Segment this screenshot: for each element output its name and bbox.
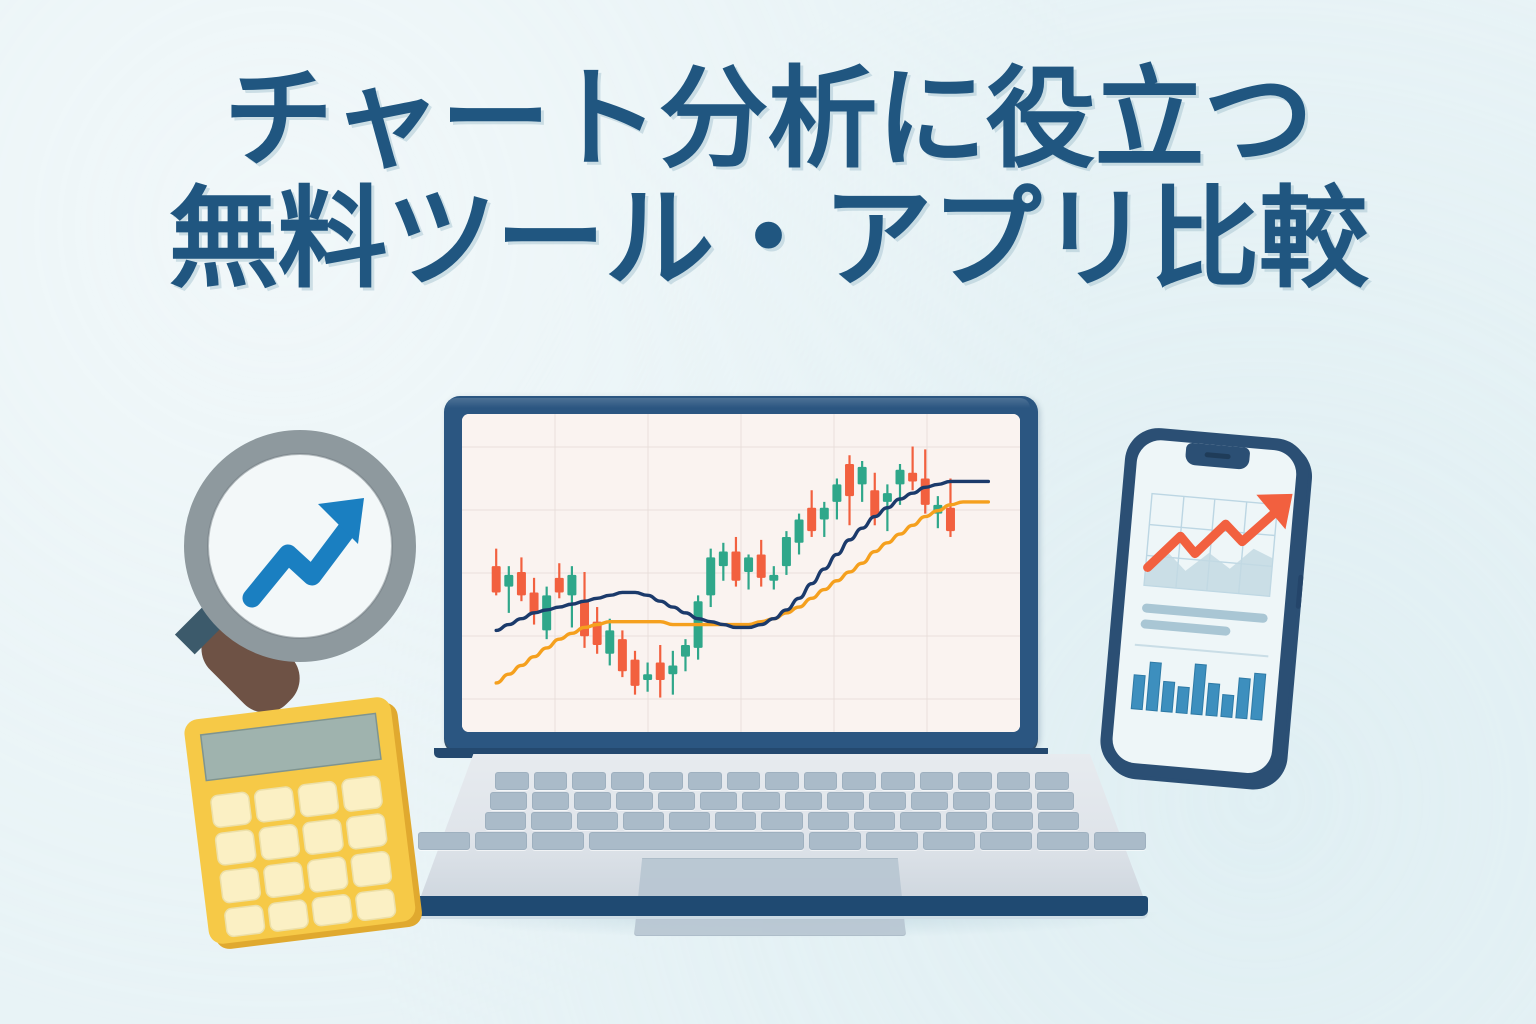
candlestick-chart <box>462 414 1020 732</box>
keyboard-key[interactable] <box>742 792 779 810</box>
keyboard-row[interactable] <box>418 812 1146 830</box>
keyboard-key[interactable] <box>485 812 526 830</box>
keyboard-key[interactable] <box>866 832 918 850</box>
keyboard-key[interactable] <box>946 812 987 830</box>
keyboard-key[interactable] <box>574 792 611 810</box>
magnifier-trend-icon <box>140 418 430 718</box>
candle-body <box>832 484 841 502</box>
candle-body <box>656 663 665 681</box>
candle-body <box>744 557 753 572</box>
keyboard-key[interactable] <box>881 772 915 790</box>
candle-body <box>618 639 627 671</box>
keyboard-key[interactable] <box>688 772 722 790</box>
keyboard-key[interactable] <box>842 772 876 790</box>
keyboard-key[interactable] <box>980 832 1032 850</box>
keyboard-key[interactable] <box>761 812 802 830</box>
candle-body <box>820 508 829 520</box>
keyboard-key[interactable] <box>475 832 527 850</box>
keyboard-key[interactable] <box>577 812 618 830</box>
candle-body <box>731 552 740 581</box>
candle-body <box>567 575 576 595</box>
keyboard-key[interactable] <box>616 792 653 810</box>
keyboard-key[interactable] <box>534 772 568 790</box>
candle-body <box>858 467 867 485</box>
keyboard-key[interactable] <box>953 792 990 810</box>
candle-body <box>896 470 905 485</box>
illustration-canvas: チャート分析に役立つ 無料ツール・アプリ比較 <box>0 0 1536 1024</box>
keyboard-key[interactable] <box>809 832 861 850</box>
keyboard-key[interactable] <box>649 772 683 790</box>
candle-body <box>921 479 930 505</box>
keyboard-key[interactable] <box>669 812 710 830</box>
candle-body <box>492 566 501 592</box>
keyboard-key[interactable] <box>1037 792 1074 810</box>
candle-body <box>580 601 589 636</box>
keyboard-key[interactable] <box>1094 832 1146 850</box>
laptop-front-edge <box>416 896 1148 916</box>
keyboard-key[interactable] <box>727 772 761 790</box>
keyboard-key[interactable] <box>958 772 992 790</box>
candle-body <box>845 464 854 496</box>
keyboard-key[interactable] <box>611 772 645 790</box>
candle-body <box>542 595 551 630</box>
candle-body <box>908 473 917 482</box>
keyboard-row[interactable] <box>418 792 1146 810</box>
keyboard-row[interactable] <box>418 832 1146 850</box>
laptop-lid <box>444 396 1038 752</box>
candle-body <box>668 665 677 674</box>
keyboard-key[interactable] <box>1038 812 1079 830</box>
keyboard-key[interactable] <box>827 792 864 810</box>
keyboard-key[interactable] <box>995 792 1032 810</box>
keyboard-key[interactable] <box>495 772 529 790</box>
keyboard-key[interactable] <box>869 792 906 810</box>
candle-body <box>504 575 513 587</box>
calculator[interactable] <box>178 690 446 952</box>
candle-body <box>605 630 614 653</box>
candle-body <box>555 578 564 593</box>
keyboard-key[interactable] <box>785 792 822 810</box>
keyboard-key[interactable] <box>700 792 737 810</box>
candle-body <box>757 554 766 577</box>
keyboard-key[interactable] <box>920 772 954 790</box>
smartphone <box>1086 428 1354 796</box>
keyboard-key[interactable] <box>490 792 527 810</box>
keyboard-key[interactable] <box>923 832 975 850</box>
title-line-1: チャート分析に役立つ <box>0 60 1536 180</box>
keyboard-key[interactable] <box>900 812 941 830</box>
candle-body <box>946 508 955 531</box>
keyboard-key[interactable] <box>765 772 799 790</box>
candle-body <box>883 493 892 502</box>
laptop <box>418 396 1146 924</box>
candle-body <box>719 552 728 567</box>
candle-body <box>530 592 539 612</box>
keyboard-key[interactable] <box>531 812 572 830</box>
candle-body <box>643 674 652 680</box>
keyboard-key[interactable] <box>911 792 948 810</box>
keyboard-key[interactable] <box>532 792 569 810</box>
keyboard-key[interactable] <box>532 832 584 850</box>
keyboard-key[interactable] <box>854 812 895 830</box>
laptop-screen <box>462 414 1020 732</box>
laptop-keyboard[interactable] <box>418 766 1146 862</box>
keyboard-key[interactable] <box>992 812 1033 830</box>
keyboard-key[interactable] <box>808 812 849 830</box>
keyboard-row[interactable] <box>418 772 1146 790</box>
keyboard-key[interactable] <box>1037 832 1089 850</box>
page-title: チャート分析に役立つ 無料ツール・アプリ比較 <box>0 60 1536 300</box>
title-line-2: 無料ツール・アプリ比較 <box>0 180 1536 300</box>
candle-body <box>870 490 879 516</box>
keyboard-key[interactable] <box>1035 772 1069 790</box>
keyboard-key[interactable] <box>997 772 1031 790</box>
candle-body <box>795 519 804 542</box>
keyboard-key[interactable] <box>804 772 838 790</box>
candle-body <box>517 572 526 595</box>
candle-body <box>782 537 791 566</box>
candle-body <box>807 508 816 531</box>
candle-body <box>769 575 778 581</box>
keyboard-key[interactable] <box>658 792 695 810</box>
candle-body <box>681 645 690 657</box>
keyboard-key[interactable] <box>715 812 756 830</box>
keyboard-key[interactable] <box>589 832 805 850</box>
keyboard-key[interactable] <box>623 812 664 830</box>
keyboard-key[interactable] <box>572 772 606 790</box>
candle-body <box>631 660 640 686</box>
candle-body <box>706 557 715 595</box>
